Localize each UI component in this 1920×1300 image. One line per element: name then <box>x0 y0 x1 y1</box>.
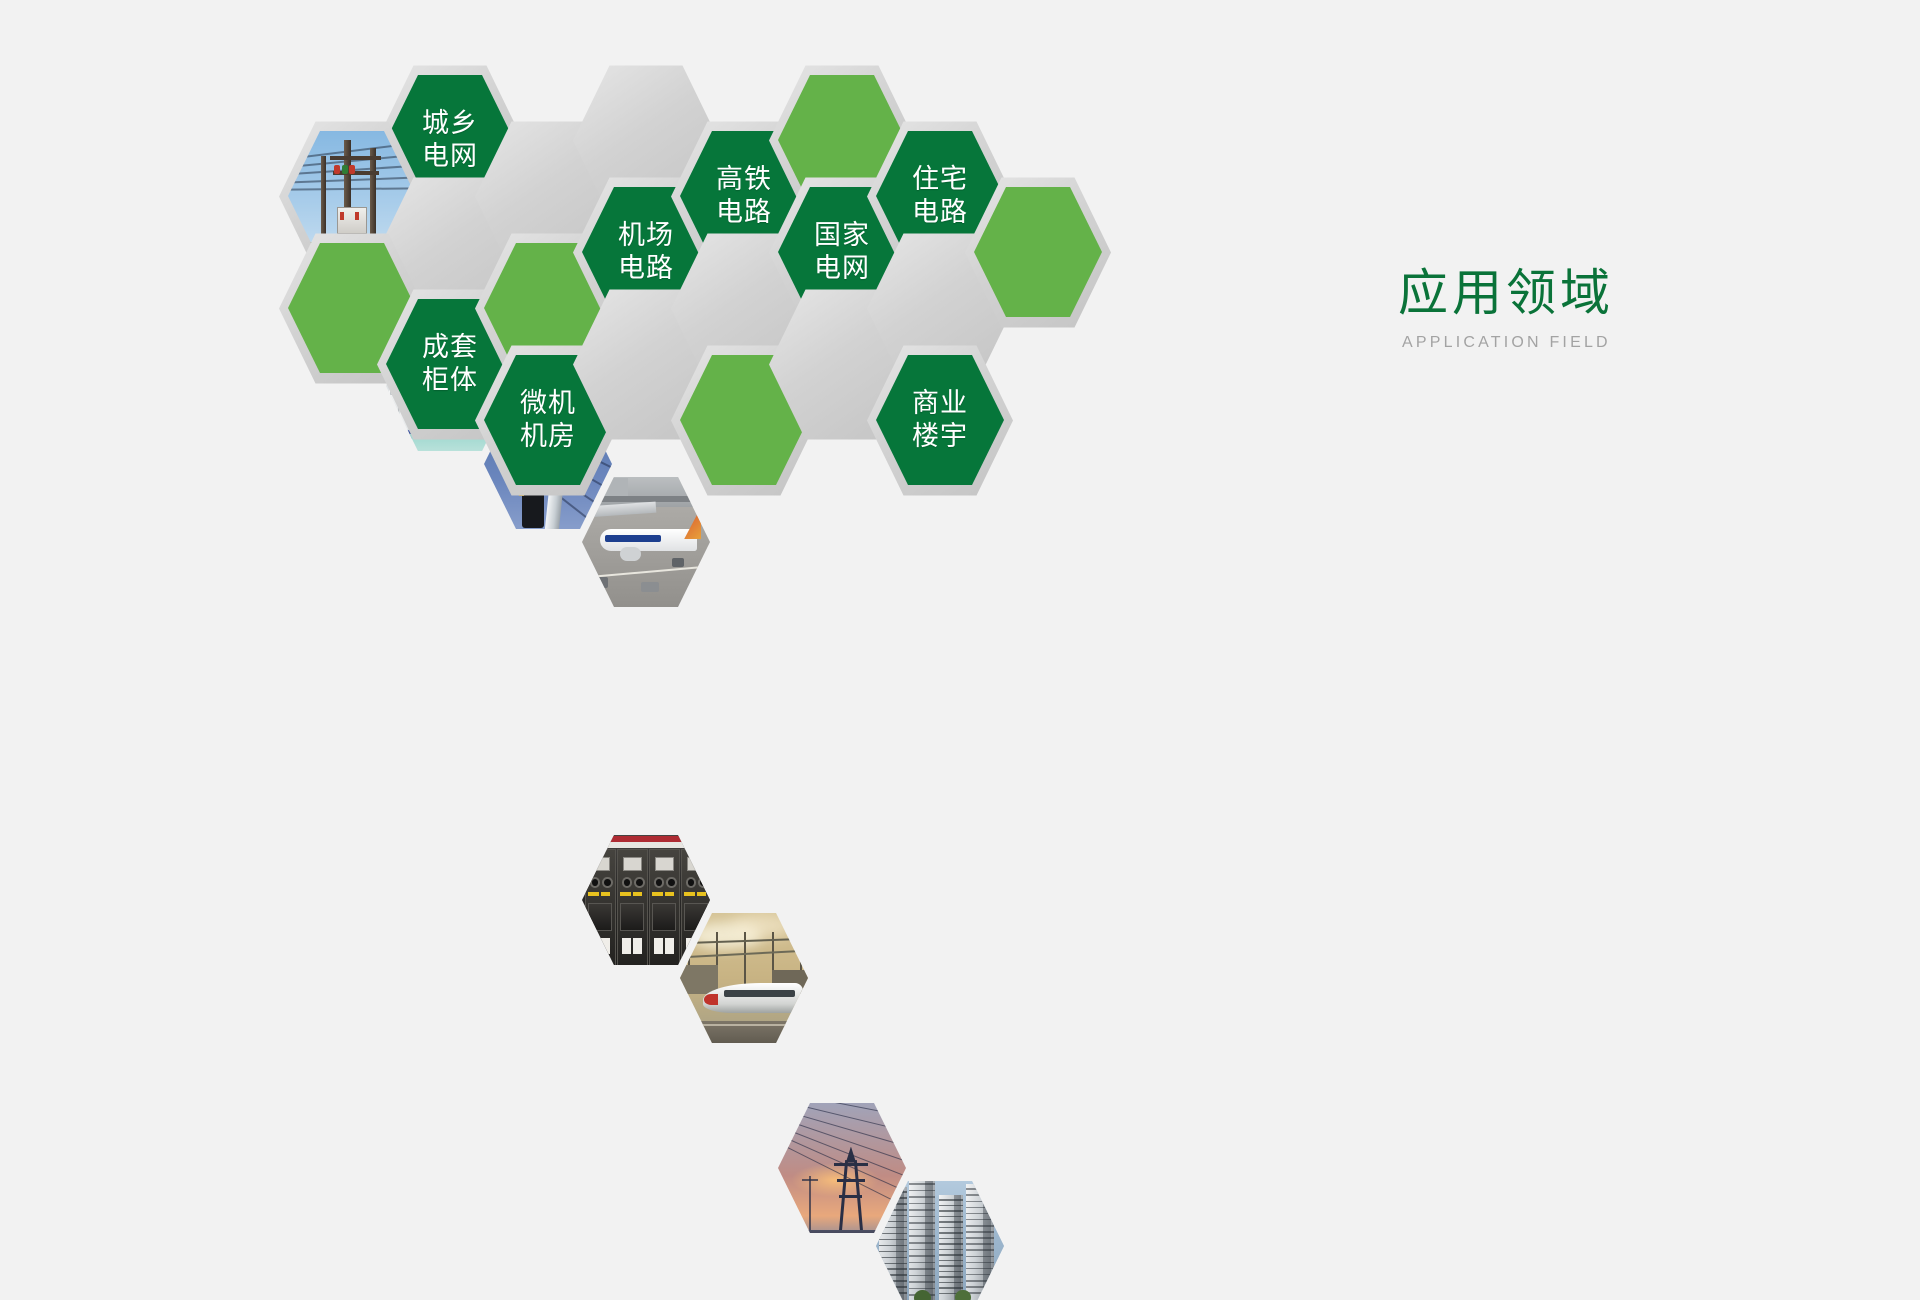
hex-photo-photo-bullet-train[interactable] <box>680 911 808 1045</box>
hex-photo-photo-pylon-dusk[interactable] <box>778 1101 906 1235</box>
hex-label-text: 高铁 电路 <box>716 163 772 229</box>
hex-photo-photo-airport-apron[interactable] <box>582 475 710 609</box>
banner-stage: 城乡 电网成套 柜体微机 机房机场 电路高铁 电路国家 电网住宅 电路商业 楼宇… <box>0 0 1920 650</box>
hex-label-text: 城乡 电网 <box>422 107 478 173</box>
page-title: 应用领域 <box>1398 268 1818 318</box>
honeycomb-grid: 城乡 电网成套 柜体微机 机房机场 电路高铁 电路国家 电网住宅 电路商业 楼宇 <box>0 0 1200 650</box>
title-block: 应用领域 APPLICATION FIELD <box>1398 268 1818 352</box>
hex-label-text: 机场 电路 <box>618 219 674 285</box>
hex-label-text: 国家 电网 <box>814 219 870 285</box>
page-subtitle: APPLICATION FIELD <box>1402 334 1818 352</box>
hex-label-text: 成套 柜体 <box>422 331 478 397</box>
hex-label-text: 商业 楼宇 <box>912 387 968 453</box>
hex-label-text: 住宅 电路 <box>912 163 968 229</box>
hex-photo-photo-highrise[interactable] <box>876 1179 1004 1300</box>
hex-label-text: 微机 机房 <box>520 387 576 453</box>
hex-photo-photo-control-panels[interactable] <box>582 833 710 967</box>
